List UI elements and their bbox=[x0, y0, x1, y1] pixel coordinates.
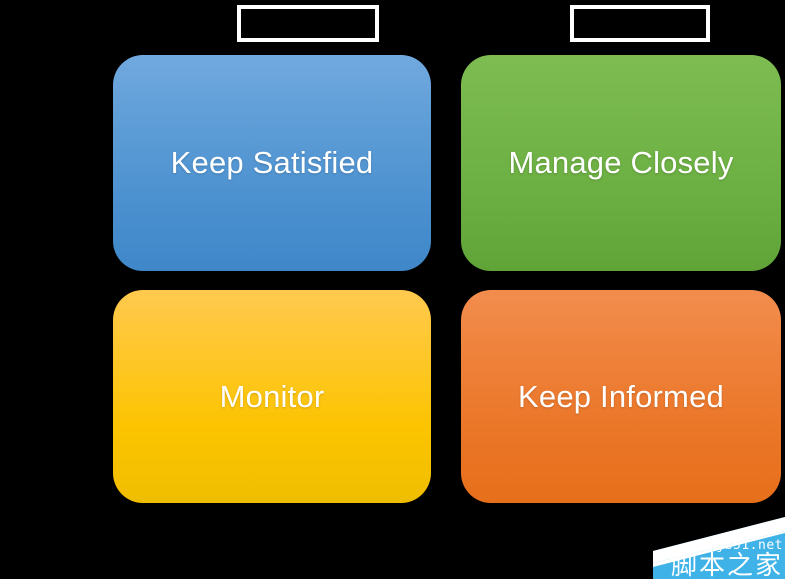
quadrant-keep-satisfied-label: Keep Satisfied bbox=[171, 145, 374, 181]
quadrant-manage-closely[interactable]: Manage Closely bbox=[461, 55, 781, 271]
quadrant-keep-informed[interactable]: Keep Informed bbox=[461, 290, 781, 503]
header-box-right-label bbox=[574, 9, 706, 38]
quadrant-manage-closely-label: Manage Closely bbox=[508, 145, 733, 181]
quadrant-monitor-label: Monitor bbox=[220, 379, 325, 415]
header-box-left-label bbox=[241, 9, 375, 38]
quadrant-keep-informed-label: Keep Informed bbox=[518, 379, 724, 415]
quadrant-keep-satisfied[interactable]: Keep Satisfied bbox=[113, 55, 431, 271]
watermark-text: jb51.net 脚本之家 bbox=[671, 539, 783, 579]
header-box-left[interactable] bbox=[237, 5, 379, 42]
slide-canvas: Keep Satisfied Manage Closely Monitor Ke… bbox=[0, 0, 785, 579]
watermark-brand: 脚本之家 bbox=[671, 553, 783, 579]
quadrant-monitor[interactable]: Monitor bbox=[113, 290, 431, 503]
header-box-right[interactable] bbox=[570, 5, 710, 42]
watermark: jb51.net 脚本之家 bbox=[653, 511, 785, 579]
